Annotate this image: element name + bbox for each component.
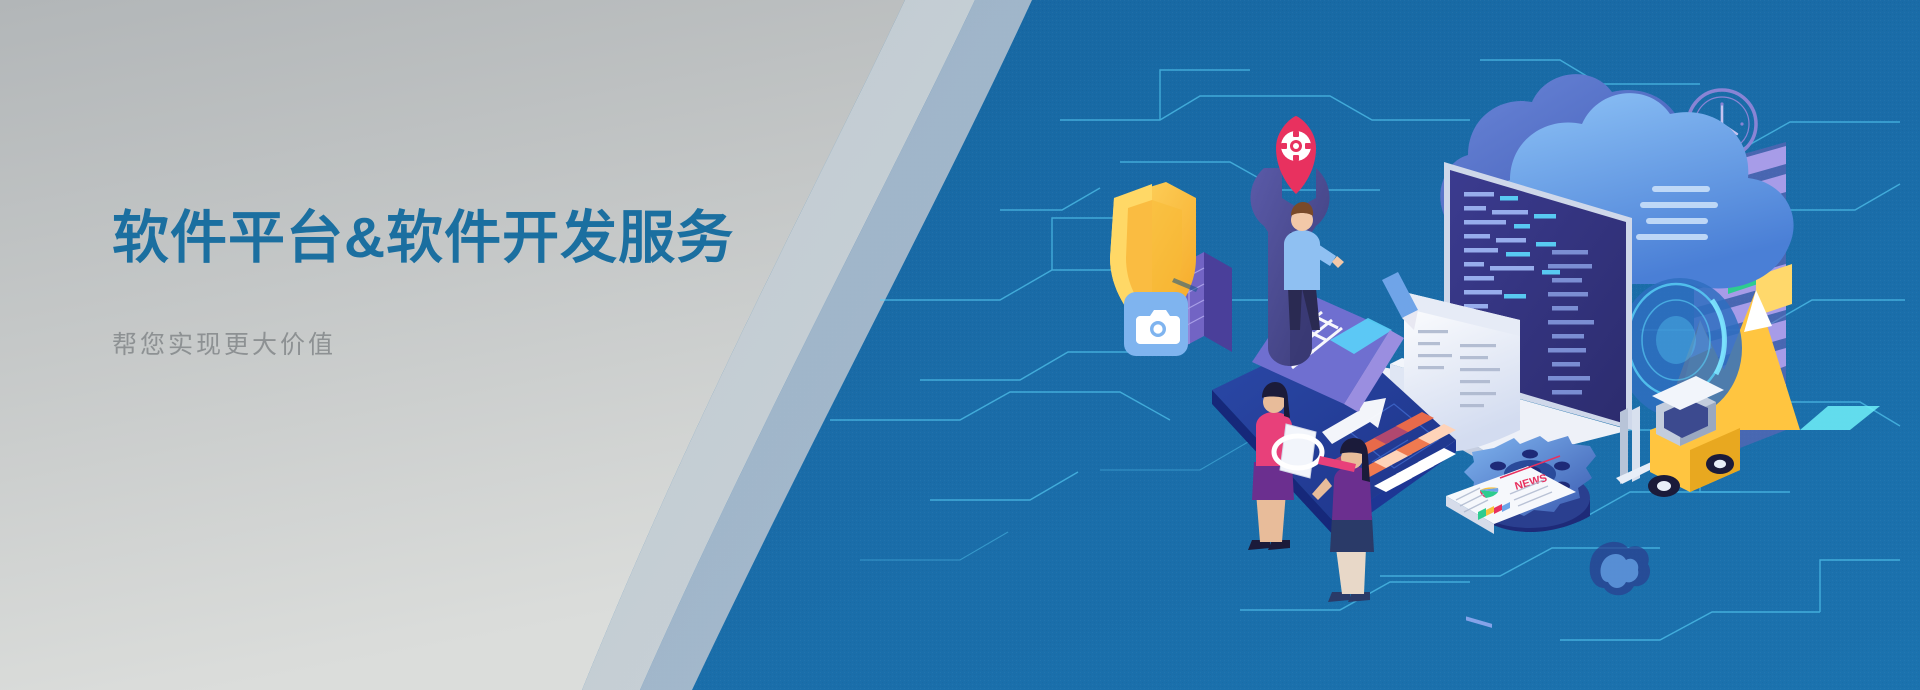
hero-banner: NEWS [0,0,1920,690]
decor-blob [1590,542,1650,595]
page-subtitle: 帮您实现更大价值 [112,272,892,360]
hero-text-block: 软件平台&软件开发服务 帮您实现更大价值 [112,206,892,360]
page-title: 软件平台&软件开发服务 [112,206,892,272]
